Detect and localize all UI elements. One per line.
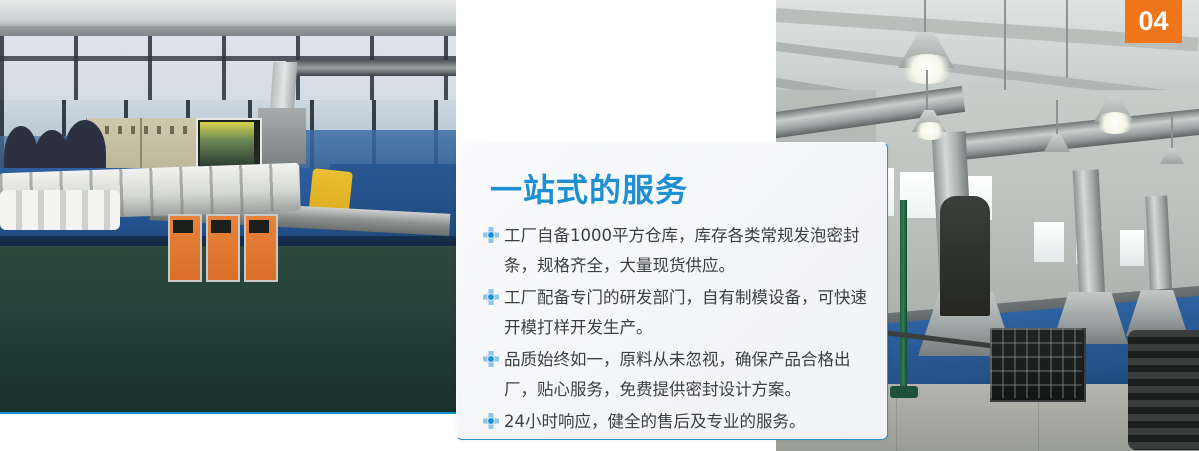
photo-material-spool xyxy=(1128,330,1199,450)
list-item-text: 24小时响应，健全的售后及专业的服务。 xyxy=(504,407,806,437)
list-item-text: 工厂自备1000平方仓库，库存各类常规发泡密封条，规格齐全，大量现货供应。 xyxy=(504,221,871,281)
list-item: 24小时响应，健全的售后及专业的服务。 xyxy=(483,407,871,437)
promo-banner: 04 一站式的服务 工厂自备1000平方仓库，库存各类常规发泡密封条，规格齐全，… xyxy=(0,0,1199,451)
photo-worker xyxy=(940,196,990,316)
list-item-text: 品质始终如一，原料从未忽视，确保产品合格出厂，贴心服务，免费提供密封设计方案。 xyxy=(504,345,871,405)
photo-window xyxy=(1034,222,1064,262)
section-number-text: 04 xyxy=(1138,8,1168,35)
photo-lamp-glow xyxy=(912,122,948,140)
list-item: 工厂配备专门的研发部门，自有制模设备，可快速开模打样开发生产。 xyxy=(483,283,871,343)
photo-heater-unit xyxy=(168,214,202,282)
photo-lamp-cord xyxy=(1171,116,1173,150)
list-item: 工厂自备1000平方仓库，库存各类常规发泡密封条，规格齐全，大量现货供应。 xyxy=(483,221,871,281)
photo-pole-base xyxy=(890,386,918,398)
photo-lamp-cord xyxy=(1056,100,1058,136)
photo-machine-display-screen xyxy=(200,122,254,166)
photo-extruder-rollers xyxy=(0,190,120,230)
photo-lamp-cord xyxy=(1066,0,1068,78)
factory-extrusion-line-photo xyxy=(0,0,456,414)
service-info-card: 一站式的服务 工厂自备1000平方仓库，库存各类常规发泡密封条，规格齐全，大量现… xyxy=(456,142,888,440)
photo-crate-mesh xyxy=(990,328,1082,398)
photo-overhead-duct xyxy=(286,60,456,76)
diamond-bullet-icon xyxy=(483,351,499,367)
photo-ceiling-beam-shadow xyxy=(0,26,456,36)
photo-lamp-cord xyxy=(924,0,926,34)
list-item-text: 工厂配备专门的研发部门，自有制模设备，可快速开模打样开发生产。 xyxy=(504,283,871,343)
photo-ceiling-beam xyxy=(0,0,456,28)
photo-heater-unit xyxy=(206,214,240,282)
photo-lamp-glow xyxy=(1094,112,1136,134)
photo-lamp-cord xyxy=(926,70,928,112)
section-number-badge: 04 xyxy=(1125,0,1182,43)
photo-window xyxy=(1120,230,1144,266)
diamond-bullet-icon xyxy=(483,413,499,429)
photo-bottom-accent-line xyxy=(0,412,456,414)
photo-green-pole xyxy=(900,200,907,396)
card-title: 一站式的服务 xyxy=(490,165,688,211)
list-item: 品质始终如一，原料从未忽视，确保产品合格出厂，贴心服务，免费提供密封设计方案。 xyxy=(483,345,871,405)
photo-duct-box xyxy=(258,108,306,164)
service-bullet-list: 工厂自备1000平方仓库，库存各类常规发泡密封条，规格齐全，大量现货供应。 工厂… xyxy=(483,221,871,439)
diamond-bullet-icon xyxy=(483,227,499,243)
diamond-bullet-icon xyxy=(483,289,499,305)
photo-heater-unit xyxy=(244,214,278,282)
photo-lamp-cord xyxy=(1004,0,1006,90)
